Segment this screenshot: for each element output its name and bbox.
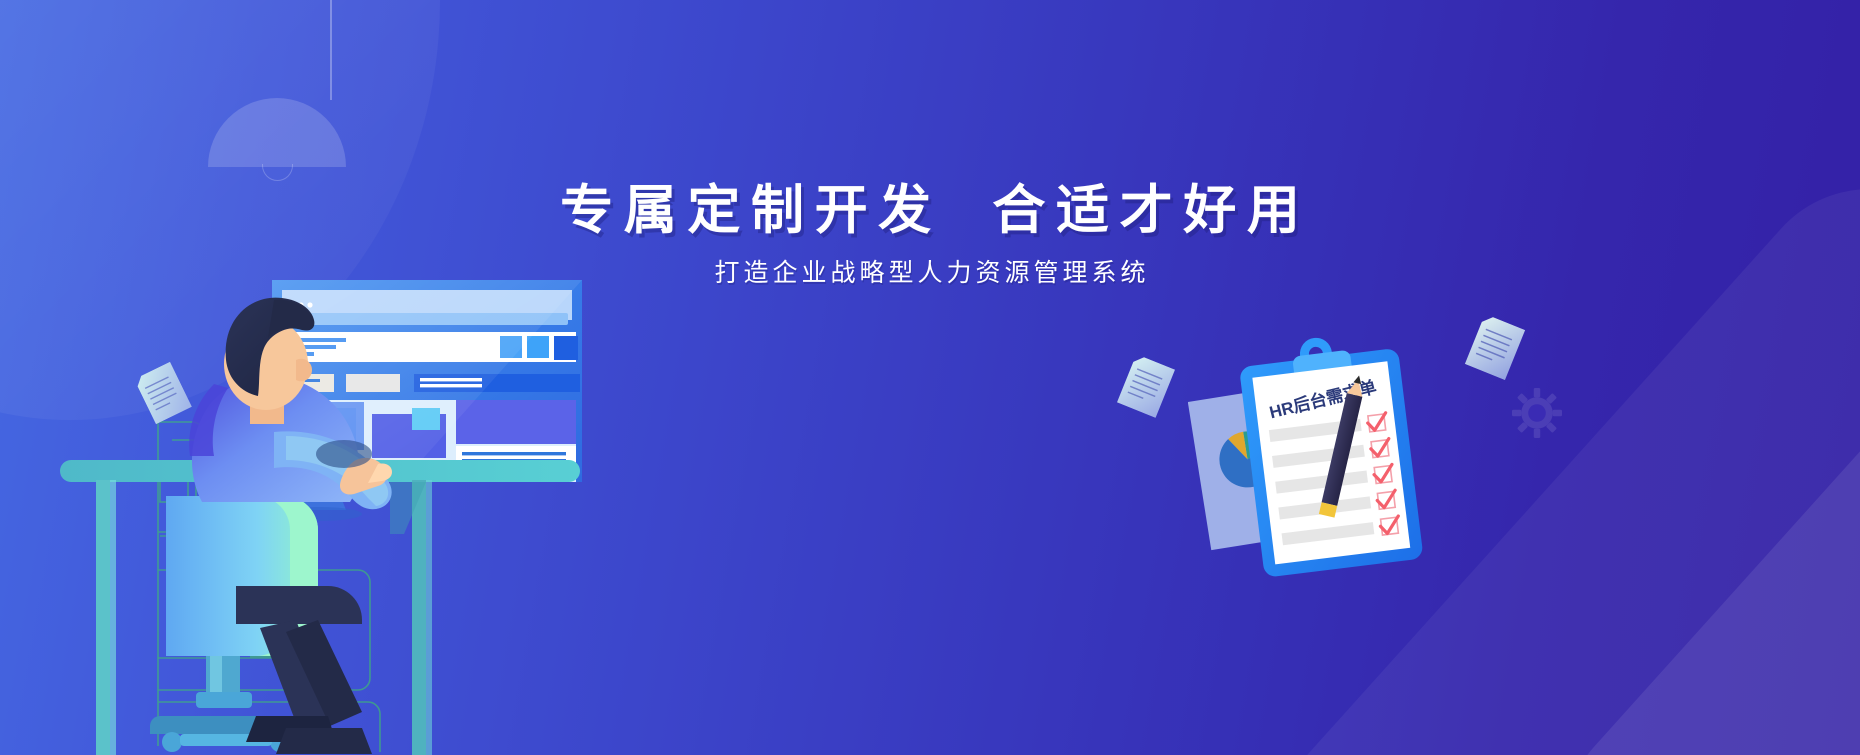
hero-banner: HR后台需求单	[0, 0, 1860, 755]
developer-at-desk-illustration	[60, 268, 620, 755]
lamp-cord-icon	[330, 0, 332, 100]
floating-document-mid-icon	[1117, 354, 1175, 418]
hr-clipboard-illustration: HR后台需求单	[1188, 328, 1488, 598]
gear-right-icon	[1512, 388, 1562, 438]
clipboard: HR后台需求单	[1237, 328, 1424, 578]
